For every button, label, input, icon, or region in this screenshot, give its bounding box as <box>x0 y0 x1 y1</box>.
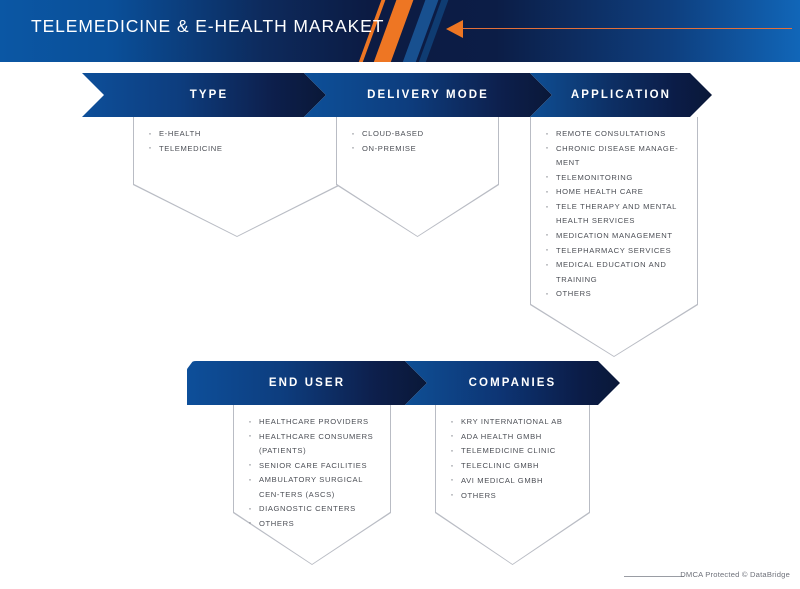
list-delivery-mode: CLOUD-BASED ON-PREMISE <box>348 127 491 156</box>
list-item: TELEMONITORING <box>542 171 686 185</box>
banner-end-user[interactable]: END USER <box>187 361 427 405</box>
list-end-user: HEALTHCARE PROVIDERS HEALTHCARE CONSUMER… <box>245 415 381 532</box>
list-item: CHRONIC DISEASE MANAGE-MENT <box>542 142 686 170</box>
list-item: ADA HEALTH GMBH <box>447 430 582 444</box>
content-box-type: E-HEALTH TELEMEDICINE <box>133 117 341 237</box>
content-box-end-user: HEALTHCARE PROVIDERS HEALTHCARE CONSUMER… <box>233 405 391 565</box>
list-item: MEDICATION MANAGEMENT <box>542 229 686 243</box>
list-item: TELECLINIC GMBH <box>447 459 582 473</box>
list-item: TELE THERAPY AND MENTAL HEALTH SERVICES <box>542 200 686 228</box>
list-type: E-HEALTH TELEMEDICINE <box>145 127 333 156</box>
list-item: HOME HEALTH CARE <box>542 185 686 199</box>
list-item: ON-PREMISE <box>348 142 491 156</box>
banner-delivery-mode[interactable]: DELIVERY MODE <box>304 73 552 117</box>
list-item: CLOUD-BASED <box>348 127 491 141</box>
list-item: OTHERS <box>542 287 686 301</box>
banner-label-application: APPLICATION <box>571 89 671 101</box>
page-title: TELEMEDICINE & E-HEALTH MARAKET <box>31 16 384 37</box>
list-item: OTHERS <box>447 489 582 503</box>
list-item: E-HEALTH <box>145 127 333 141</box>
footer-copyright: DMCA Protected © DataBridge <box>680 570 790 579</box>
banner-label-companies: COMPANIES <box>469 377 557 389</box>
list-item: DIAGNOSTIC CENTERS <box>245 502 381 516</box>
content-box-companies: KRY INTERNATIONAL AB ADA HEALTH GMBH TEL… <box>435 405 590 565</box>
list-item: TELEPHARMACY SERVICES <box>542 244 686 258</box>
list-item: KRY INTERNATIONAL AB <box>447 415 582 429</box>
banner-label-type: TYPE <box>190 89 228 101</box>
list-item: OTHERS <box>245 517 381 531</box>
banner-application[interactable]: APPLICATION <box>530 73 712 117</box>
list-item: SENIOR CARE FACILITIES <box>245 459 381 473</box>
banner-label-end-user: END USER <box>269 377 345 389</box>
banner-type[interactable]: TYPE <box>82 73 326 117</box>
content-box-application: REMOTE CONSULTATIONS CHRONIC DISEASE MAN… <box>530 117 698 357</box>
list-item: TELEMEDICINE <box>145 142 333 156</box>
list-item: AVI MEDICAL GMBH <box>447 474 582 488</box>
banner-label-delivery-mode: DELIVERY MODE <box>367 89 489 101</box>
list-item: HEALTHCARE CONSUMERS (PATIENTS) <box>245 430 381 458</box>
arrow-left-icon <box>446 20 463 38</box>
list-application: REMOTE CONSULTATIONS CHRONIC DISEASE MAN… <box>542 127 686 302</box>
header-arrow-line <box>462 28 792 29</box>
list-item: TELEMEDICINE CLINIC <box>447 444 582 458</box>
content-box-delivery-mode: CLOUD-BASED ON-PREMISE <box>336 117 499 237</box>
footer-divider <box>624 576 684 577</box>
header-bar: TELEMEDICINE & E-HEALTH MARAKET <box>0 0 800 62</box>
list-companies: KRY INTERNATIONAL AB ADA HEALTH GMBH TEL… <box>447 415 582 503</box>
infographic-canvas: TELEMEDICINE & E-HEALTH MARAKET TYPE DEL… <box>0 0 800 589</box>
list-item: MEDICAL EDUCATION AND TRAINING <box>542 258 686 286</box>
list-item: AMBULATORY SURGICAL CEN-TERS (ASCS) <box>245 473 381 501</box>
banner-companies[interactable]: COMPANIES <box>405 361 620 405</box>
list-item: REMOTE CONSULTATIONS <box>542 127 686 141</box>
list-item: HEALTHCARE PROVIDERS <box>245 415 381 429</box>
